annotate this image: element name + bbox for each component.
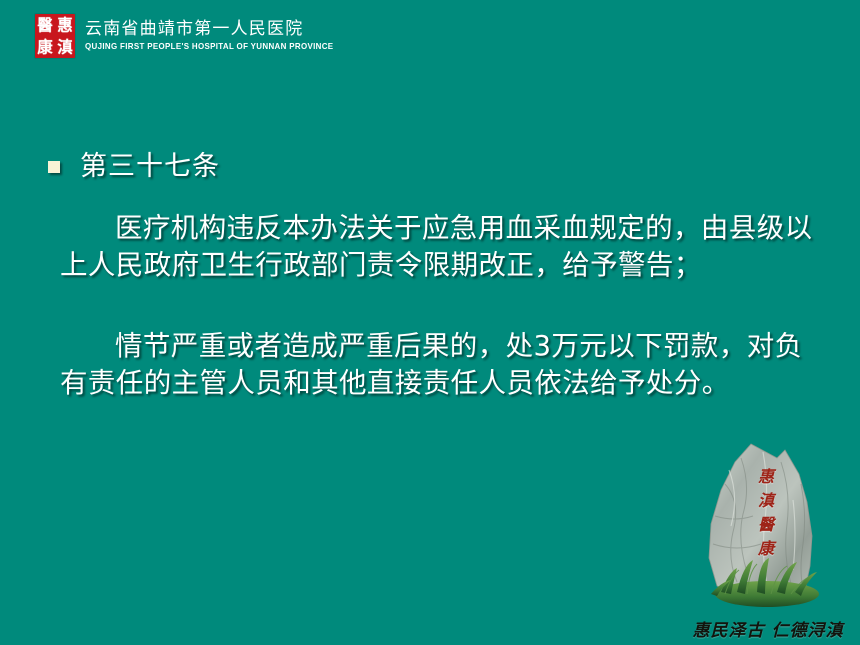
stone-caption-text: 惠民泽古 仁德浔滇: [673, 616, 860, 641]
hospital-name-cn: 云南省曲靖市第一人民医院: [85, 19, 341, 40]
carved-char-3: 醫: [758, 516, 774, 533]
paragraph-2: 情节严重或者造成严重后果的，处3万元以下罚款，对负有责任的主管人员和其他直接责任…: [60, 328, 820, 402]
stone-carved-inscription: 惠 滇 醫 康: [749, 468, 783, 557]
engraved-stone-monument: 惠 滇 醫 康 惠民泽古 仁德浔滇: [681, 440, 856, 645]
carved-char-2: 滇: [758, 492, 774, 509]
seal-char-4: 滇: [55, 35, 75, 58]
carved-char-1: 惠: [758, 468, 774, 485]
slide-canvas: 醫 惠 康 滇 云南省曲靖市第一人民医院 QUJING FIRST PEOPLE…: [0, 0, 860, 645]
hospital-seal-logo: 醫 惠 康 滇: [35, 14, 75, 58]
carved-char-4: 康: [758, 540, 774, 557]
slide-header: 醫 惠 康 滇 云南省曲靖市第一人民医院 QUJING FIRST PEOPLE…: [0, 0, 860, 72]
hospital-brand: 云南省曲靖市第一人民医院 QUJING FIRST PEOPLE'S HOSPI…: [85, 19, 341, 53]
seal-char-3: 康: [35, 35, 55, 58]
seal-char-1: 醫: [35, 13, 55, 36]
hospital-name-en: QUJING FIRST PEOPLE'S HOSPITAL OF YUNNAN…: [85, 41, 333, 53]
bullet-heading: 第三十七条: [48, 150, 838, 184]
seal-char-2: 惠: [55, 13, 75, 36]
square-bullet-icon: [48, 161, 60, 173]
paragraph-1: 医疗机构违反本办法关于应急用血采血规定的，由县级以上人民政府卫生行政部门责令限期…: [60, 210, 820, 284]
article-number-label: 第三十七条: [80, 150, 220, 184]
slide-body: 第三十七条 医疗机构违反本办法关于应急用血采血规定的，由县级以上人民政府卫生行政…: [48, 150, 838, 402]
